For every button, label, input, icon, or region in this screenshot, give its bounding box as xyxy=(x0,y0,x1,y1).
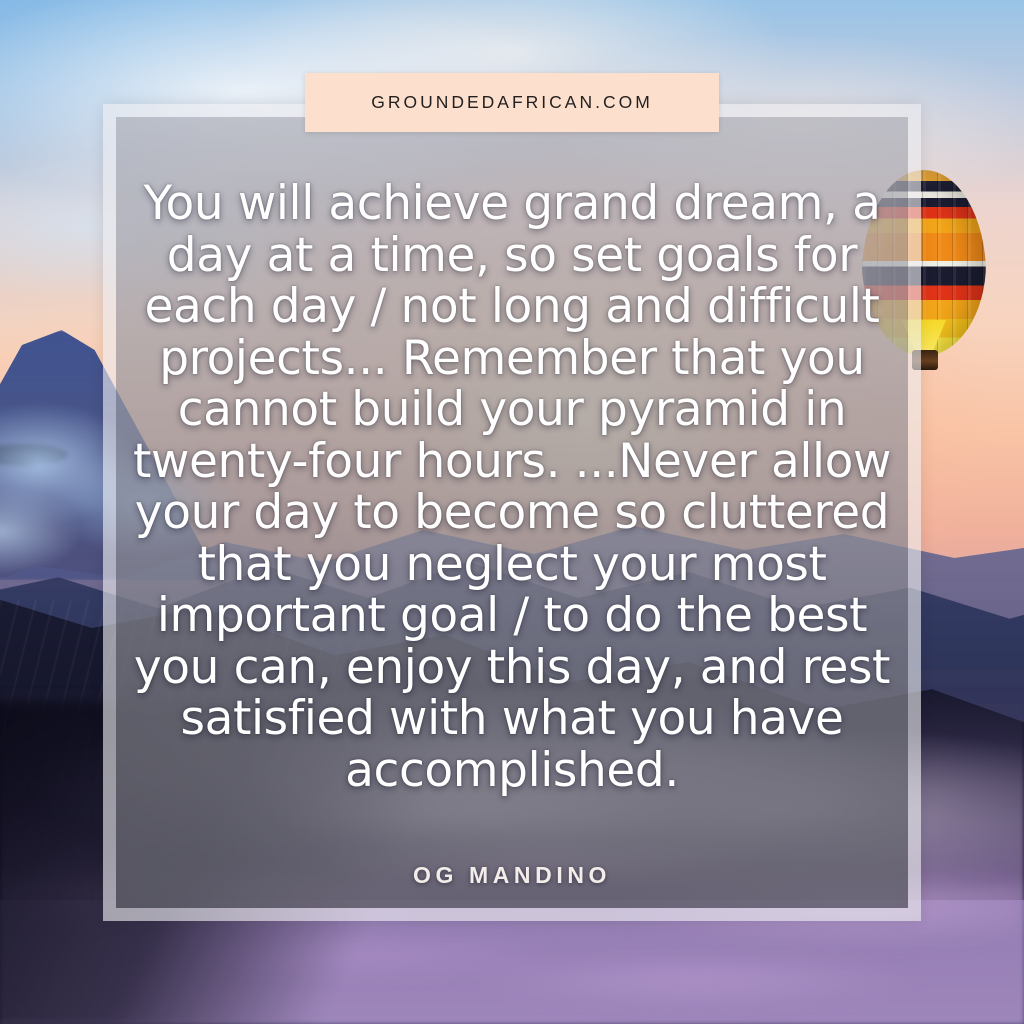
site-url-banner[interactable]: GROUNDEDAFRICAN.COM xyxy=(305,73,719,132)
quote-poster: GROUNDEDAFRICAN.COM You will achieve gra… xyxy=(0,0,1024,1024)
quote-author: OG MANDINO xyxy=(116,862,908,889)
site-url-label: GROUNDEDAFRICAN.COM xyxy=(371,92,653,113)
quote-block: You will achieve grand dream, a day at a… xyxy=(130,178,894,796)
quote-text: You will achieve grand dream, a day at a… xyxy=(130,178,894,796)
